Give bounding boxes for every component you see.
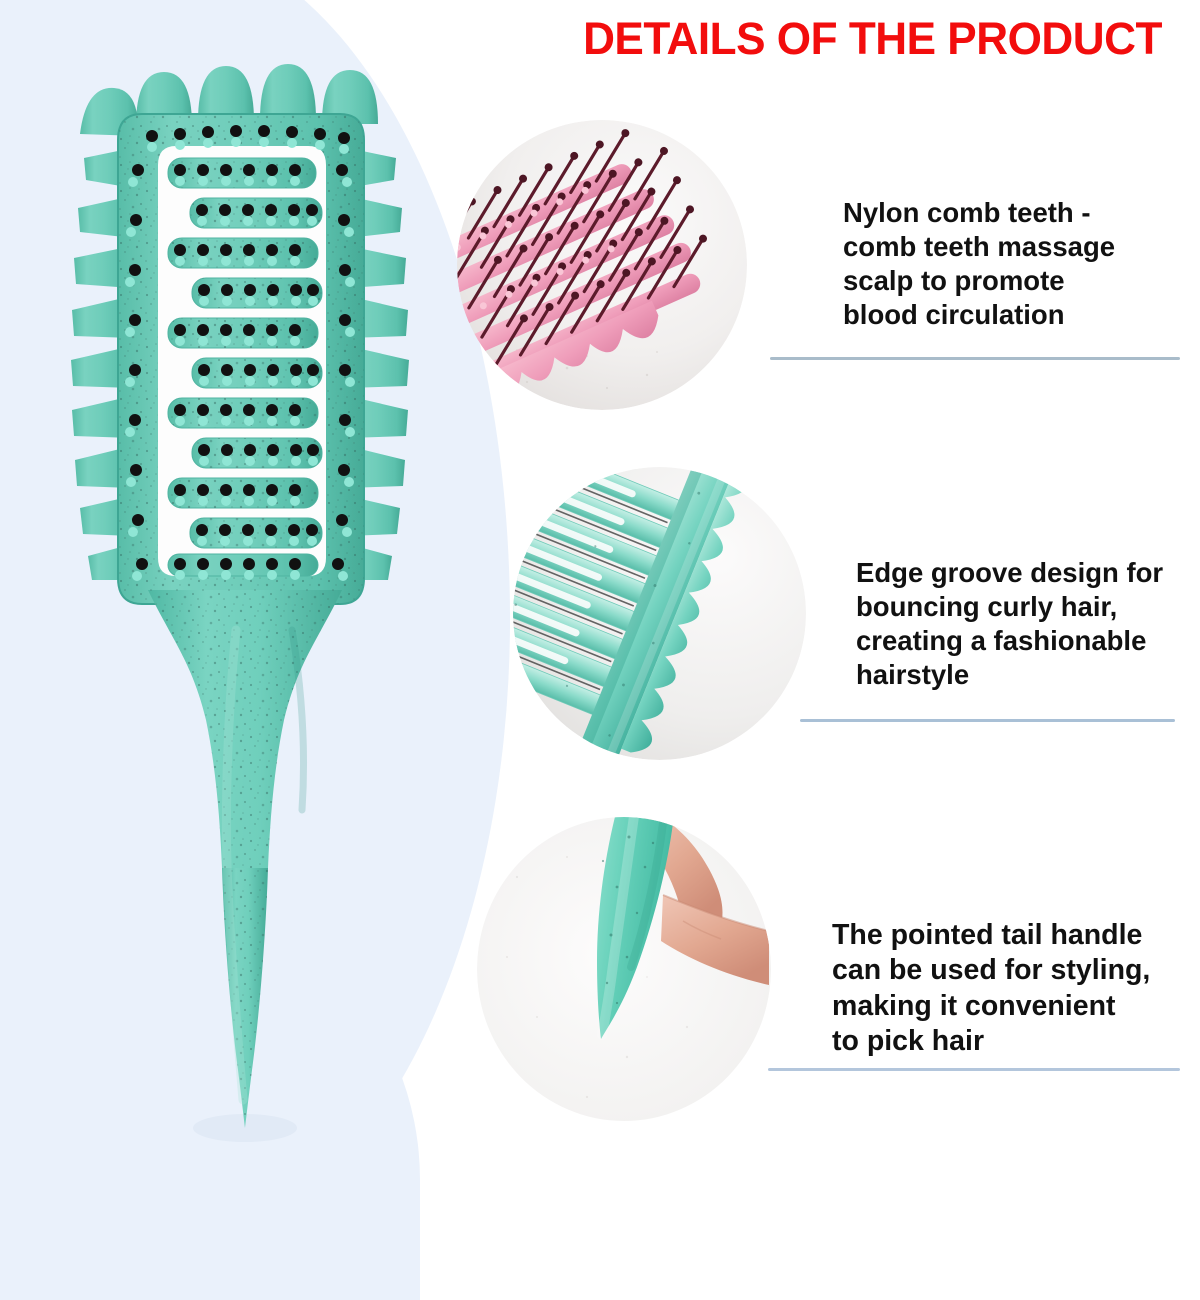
feature-photo-pointed-tail-handle	[477, 817, 771, 1122]
feature-label-nylon-comb-teeth: Nylon comb teeth - comb teeth massage sc…	[843, 196, 1173, 332]
main-product-photo	[40, 30, 470, 1170]
feature-photo-nylon-comb-teeth	[457, 120, 747, 410]
feature-divider-2	[800, 719, 1175, 722]
feature-label-edge-groove-design: Edge groove design for bouncing curly ha…	[856, 556, 1186, 692]
feature-label-pointed-tail-handle: The pointed tail handle can be used for …	[832, 918, 1177, 1059]
feature-divider-3	[768, 1068, 1180, 1071]
feature-divider-1	[770, 357, 1180, 360]
infographic-canvas: DETAILS OF THE PRODUCT	[0, 0, 1200, 1200]
page-title: DETAILS OF THE PRODUCT	[561, 14, 1183, 64]
feature-photo-edge-groove-design	[513, 467, 806, 760]
